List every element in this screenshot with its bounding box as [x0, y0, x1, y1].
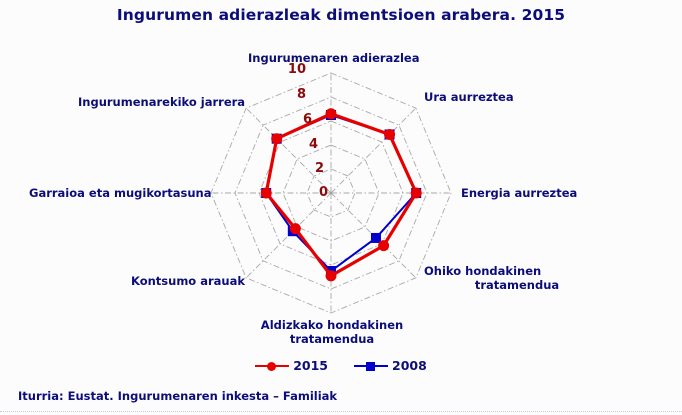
legend-label-2015: 2015 [293, 358, 328, 373]
tick-label-0: 0 [310, 185, 328, 200]
axis-label-ingurumenarekiko-jarrera: Ingurumenarekiko jarrera [78, 95, 245, 109]
axis-label-ingurumenaren-adierazlea: Ingurumenaren adierazlea [248, 51, 420, 65]
legend-swatch-2008 [354, 360, 388, 372]
axis-label-kontsumo-arauak: Kontsumo arauak [131, 274, 245, 288]
tick-label-8: 8 [288, 87, 306, 102]
axis-label-energia-aurreztea: Energia aurreztea [461, 186, 577, 200]
tick-label-4: 4 [300, 137, 318, 152]
axis-label-ura-aurreztea: Ura aurreztea [424, 90, 514, 104]
tick-label-2: 2 [306, 161, 324, 176]
radar-series-layer [261, 109, 421, 281]
legend-item-2015[interactable]: 2015 [255, 358, 328, 373]
axis-label-line-2: tratamendua [252, 332, 412, 346]
legend-label-2008: 2008 [392, 358, 427, 373]
radar-chart-figure: Ingurumen adierazleak dimentsioen araber… [0, 0, 682, 415]
axis-label-line-2: tratamendua [424, 278, 584, 292]
bottom-divider [0, 411, 682, 412]
chart-legend: 2015 2008 [0, 358, 682, 373]
axis-label-line-1: Ohiko hondakinen [424, 264, 584, 278]
legend-swatch-2015 [255, 360, 289, 372]
axis-label-garraioa-eta-mugikortasuna: Garraioa eta mugikortasuna [29, 186, 211, 200]
axis-label-aldizkako-hondakinen-tratamendua: Aldizkako hondakinen tratamendua [252, 318, 412, 346]
legend-item-2008[interactable]: 2008 [354, 358, 427, 373]
tick-label-6: 6 [294, 112, 312, 127]
axis-label-ohiko-hondakinen-tratamendua: Ohiko hondakinen tratamendua [424, 264, 584, 292]
source-note: Iturria: Eustat. Ingurumenaren inkesta –… [18, 389, 337, 403]
axis-label-line-1: Aldizkako hondakinen [252, 318, 412, 332]
